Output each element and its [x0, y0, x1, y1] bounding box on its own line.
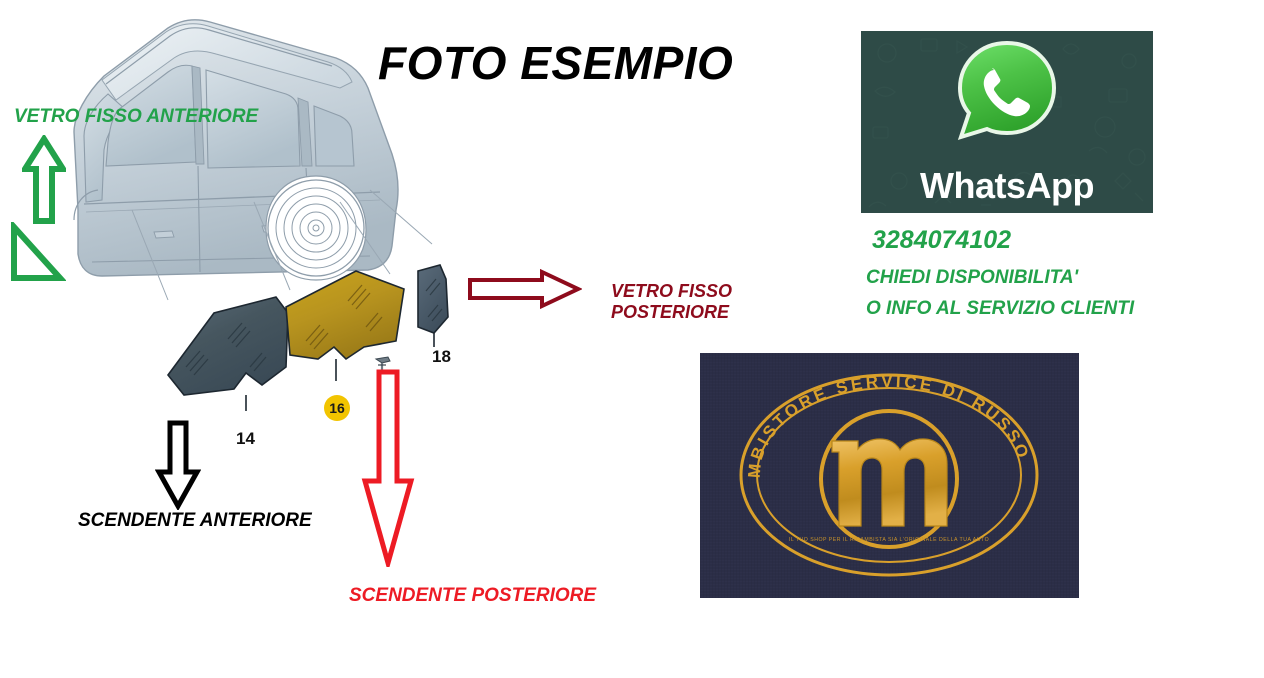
- logo-tagline: IL TUO SHOP PER IL RICAMBISTA SIA L'ORIG…: [789, 537, 989, 543]
- long-down-arrow-outline-icon: [360, 367, 416, 567]
- whatsapp-banner[interactable]: WhatsApp: [861, 31, 1153, 213]
- triangle-outline-icon: [8, 222, 66, 284]
- whatsapp-phone-bubble-icon: [952, 37, 1062, 147]
- screenshot-root: FOTO ESEMPIO: [0, 0, 1264, 678]
- callout-label-front-drop-glass: SCENDENTE ANTERIORE: [78, 510, 312, 532]
- down-arrow-outline-icon: [155, 418, 201, 510]
- callout-label-front-fixed-glass: VETRO FISSO ANTERIORE: [14, 106, 258, 128]
- logo-monogram: [832, 439, 947, 526]
- contact-availability-line: CHIEDI DISPONIBILITA': [866, 267, 1078, 289]
- part-number-badge-16: 16: [324, 395, 350, 421]
- callout-label-rear-fixed-glass: VETRO FISSO POSTERIORE: [611, 281, 732, 323]
- part-front-drop-glass: [168, 297, 288, 411]
- shop-logo-banner: MRICAMBISTORE SERVICE DI RUSSO MARCO IL …: [700, 353, 1079, 598]
- callout-label-rear-drop-glass: SCENDENTE POSTERIORE: [349, 585, 596, 607]
- right-arrow-outline-icon: [466, 268, 582, 310]
- car-body-shape: [74, 20, 398, 280]
- part-number-14: 14: [236, 429, 255, 449]
- contact-phone-number[interactable]: 3284074102: [872, 226, 1011, 255]
- whatsapp-wordmark: WhatsApp: [861, 165, 1153, 207]
- up-arrow-outline-icon: [22, 135, 66, 225]
- part-number-18: 18: [432, 347, 451, 367]
- part-rear-drop-glass: [286, 271, 404, 381]
- shop-logo-emblem: MRICAMBISTORE SERVICE DI RUSSO MARCO IL …: [700, 353, 1079, 598]
- contact-customer-service-line: O INFO AL SERVIZIO CLIENTI: [866, 298, 1134, 320]
- part-rear-fixed-glass: [418, 265, 448, 347]
